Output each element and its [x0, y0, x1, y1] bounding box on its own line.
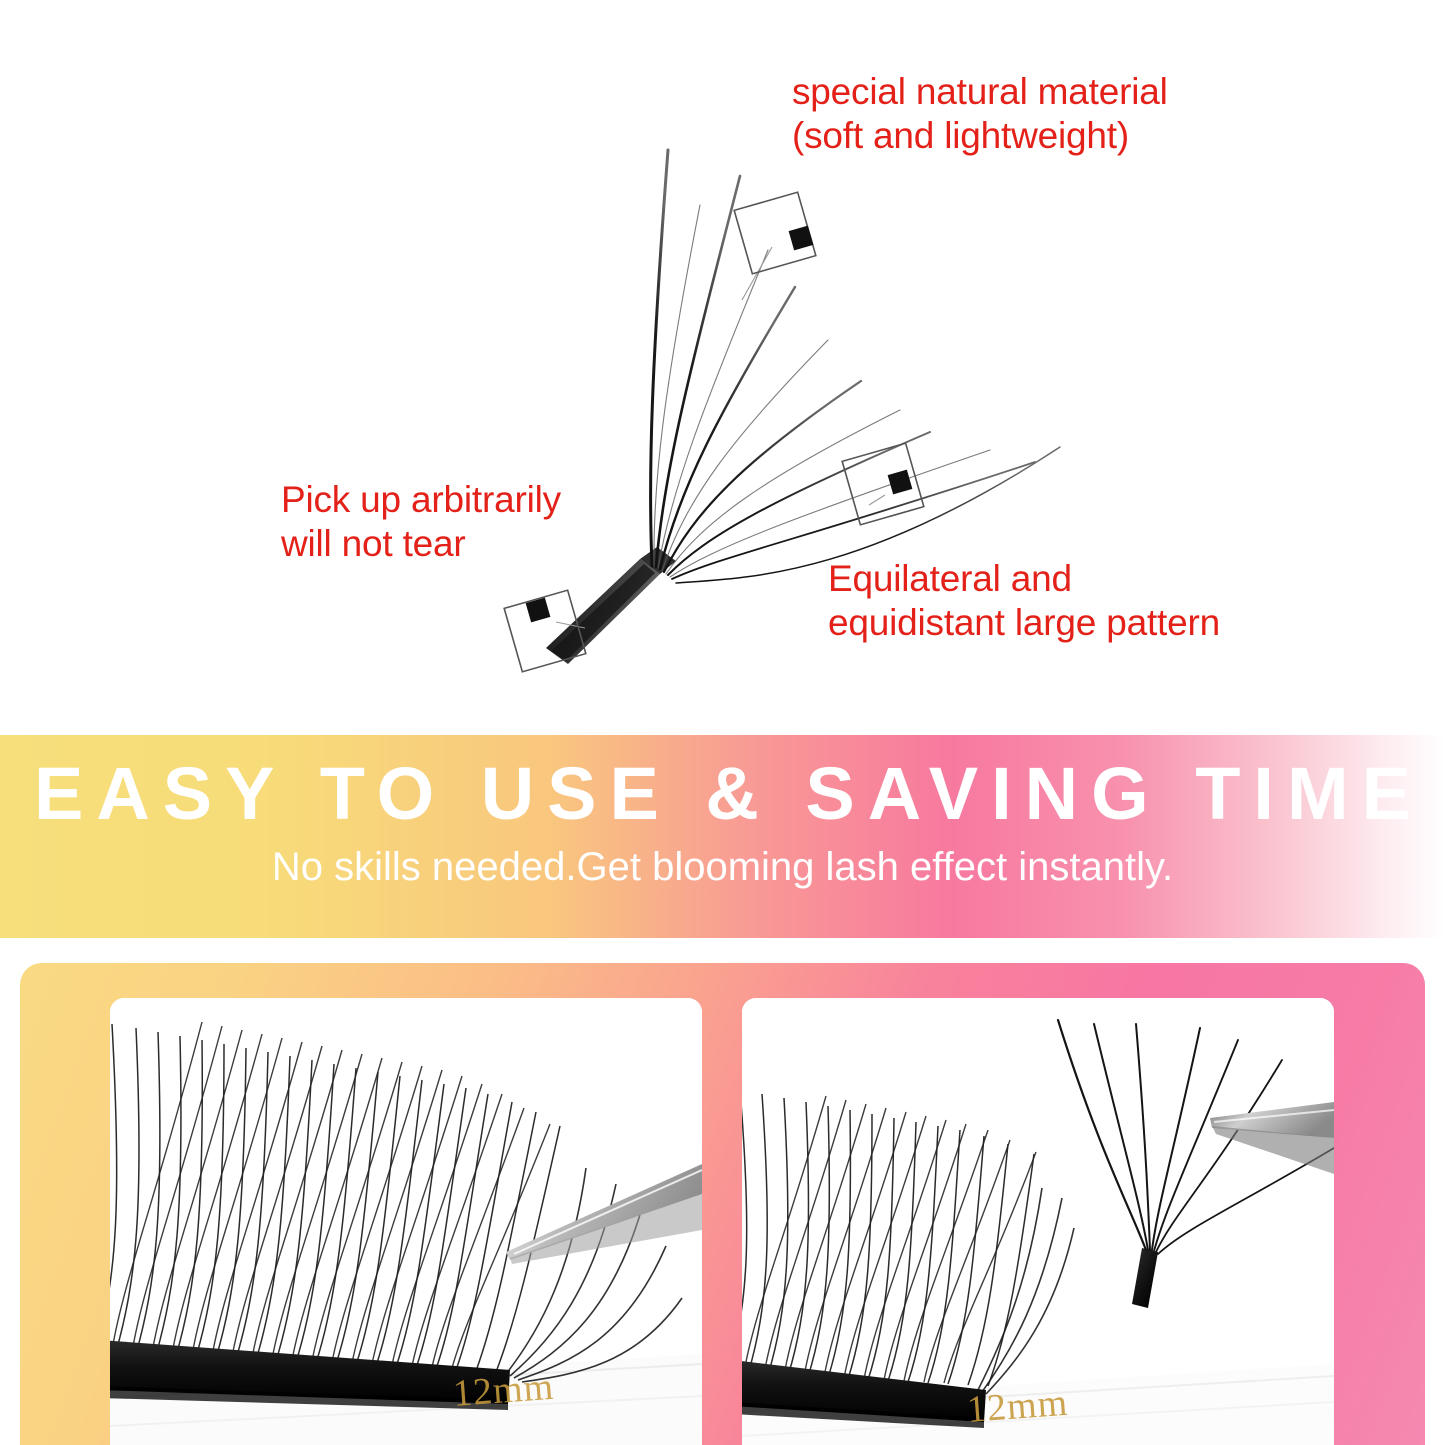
marker-square-top	[734, 192, 816, 274]
photo-card-fan-pickup: 12mm	[742, 998, 1334, 1445]
callout-special-natural-material: special natural material (soft and light…	[792, 70, 1168, 159]
callout-equilateral-equidistant: Equilateral and equidistant large patter…	[828, 557, 1220, 646]
promo-banner: EASY TO USE & SAVING TIME No skills need…	[0, 735, 1445, 938]
svg-text:12mm: 12mm	[452, 1366, 556, 1415]
diagram-section: special natural material (soft and light…	[0, 0, 1445, 735]
photo-gradient-frame: 12mm	[20, 963, 1425, 1445]
banner-subtitle: No skills needed.Get blooming lash effec…	[0, 847, 1445, 887]
lash-tray-photo-left: 12mm	[110, 998, 702, 1445]
photos-section: 12mm	[0, 938, 1445, 1445]
marker-square-middle	[842, 443, 924, 525]
lash-fan-fibers-secondary	[654, 205, 990, 577]
banner-headline: EASY TO USE & SAVING TIME	[0, 757, 1445, 831]
lash-tray-photo-right: 12mm	[742, 998, 1334, 1445]
svg-text:12mm: 12mm	[966, 1382, 1070, 1431]
photo-card-lash-tray-tweezers: 12mm	[110, 998, 702, 1445]
lash-fan-fibers	[651, 150, 1060, 583]
callout-pick-up-arbitrarily: Pick up arbitrarily will not tear	[281, 478, 561, 567]
lash-fan-illustration	[0, 0, 1445, 735]
